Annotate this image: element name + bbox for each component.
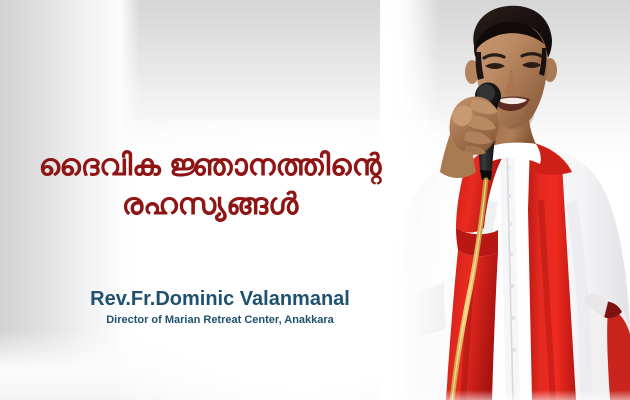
headline-block: ദൈവിക ജ്ഞാനത്തിന്റെ രഹസ്യങ്ങൾ <box>0 148 420 223</box>
speaker-role: Director of Marian Retreat Center, Anakk… <box>0 314 440 327</box>
title-line-2: രഹസ്യങ്ങൾ <box>0 187 420 224</box>
speaker-name: Rev.Fr.Dominic Valanmanal <box>0 288 440 310</box>
title-line-1: ദൈവിക ജ്ഞാനത്തിന്റെ <box>0 148 420 185</box>
poster-canvas: ദൈവിക ജ്ഞാനത്തിന്റെ രഹസ്യങ്ങൾ Rev.Fr.Dom… <box>0 0 630 400</box>
speaker-credit-block: Rev.Fr.Dominic Valanmanal Director of Ma… <box>0 288 440 327</box>
